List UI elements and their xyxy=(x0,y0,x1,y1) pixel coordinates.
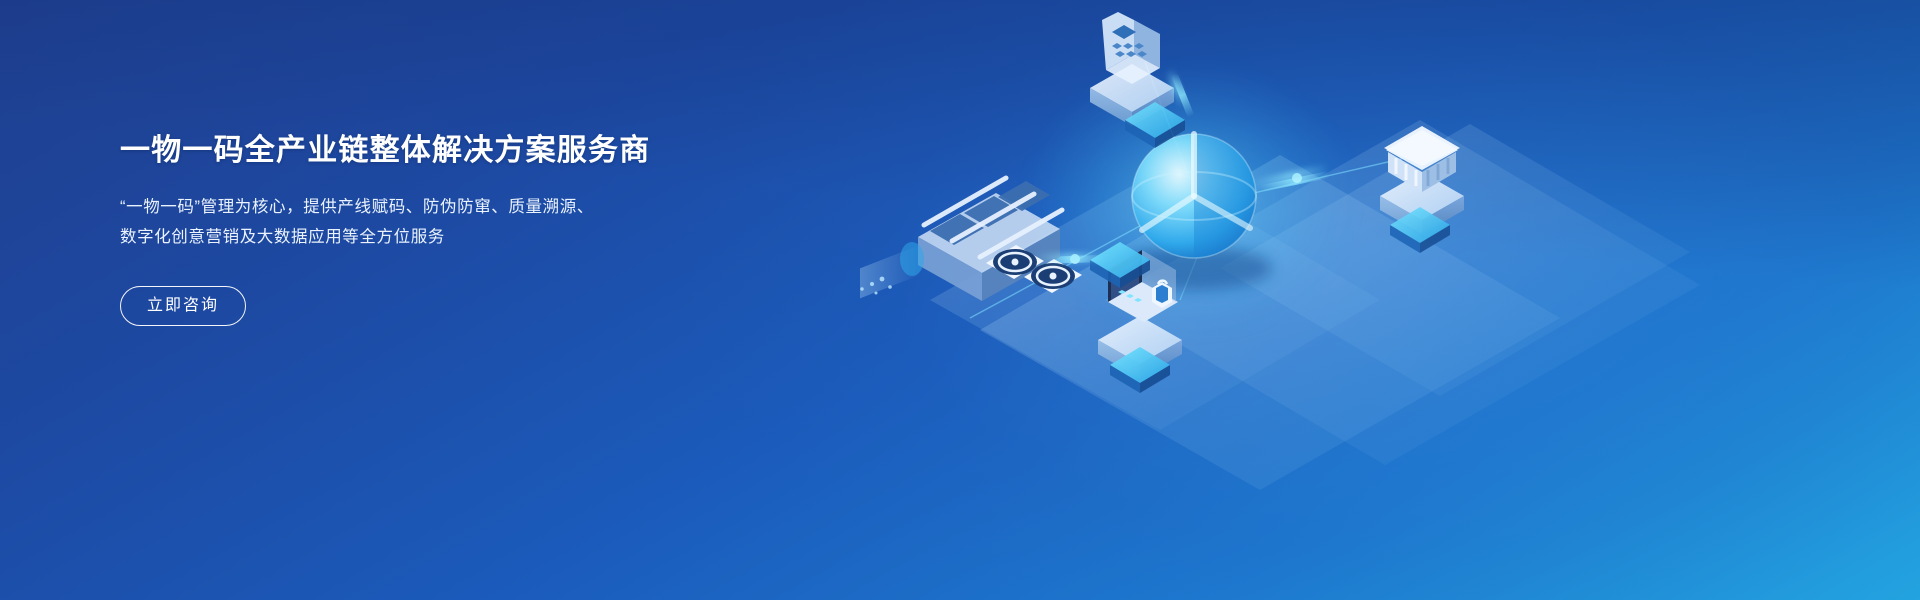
isometric-network-illustration xyxy=(860,0,1920,600)
page-title: 一物一码全产业链整体解决方案服务商 xyxy=(120,132,740,170)
consult-now-button[interactable]: 立即咨询 xyxy=(120,286,246,326)
illustration-container xyxy=(860,0,1920,600)
subtitle-line-2: 数字化创意营销及大数据应用等全方位服务 xyxy=(120,222,740,252)
hero-subtitle: “一物一码”管理为核心，提供产线赋码、防伪防窜、质量溯源、 数字化创意营销及大数… xyxy=(120,192,740,252)
hero-copy: 一物一码全产业链整体解决方案服务商 “一物一码”管理为核心，提供产线赋码、防伪防… xyxy=(120,132,740,326)
hero-banner: 一物一码全产业链整体解决方案服务商 “一物一码”管理为核心，提供产线赋码、防伪防… xyxy=(0,0,1920,600)
subtitle-line-1: “一物一码”管理为核心，提供产线赋码、防伪防窜、质量溯源、 xyxy=(120,192,740,222)
